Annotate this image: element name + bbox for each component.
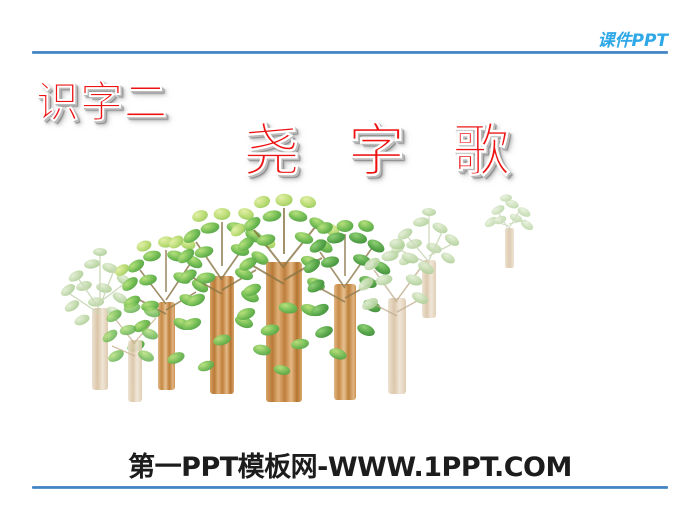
header-watermark: 课件PPT xyxy=(597,26,668,51)
tree-left-small xyxy=(100,302,161,402)
slide-canvas: 课件PPT 识字二 尧 字 歌 xyxy=(0,0,700,525)
tree-main-4 xyxy=(301,218,392,400)
top-divider-rule xyxy=(32,51,668,54)
tree-main-1 xyxy=(113,236,210,390)
background-tree-far-right xyxy=(483,194,535,268)
forest-illustration xyxy=(0,180,700,450)
canopy-filler-leaves xyxy=(166,333,348,377)
footer-watermark: 第一PPT模板网-WWW.1PPT.COM xyxy=(0,445,700,484)
forest-illustration-svg xyxy=(0,180,700,450)
page-title: 尧 字 歌 xyxy=(243,105,524,187)
bottom-divider-rule xyxy=(32,486,668,489)
lesson-label: 识字二 xyxy=(36,68,168,130)
